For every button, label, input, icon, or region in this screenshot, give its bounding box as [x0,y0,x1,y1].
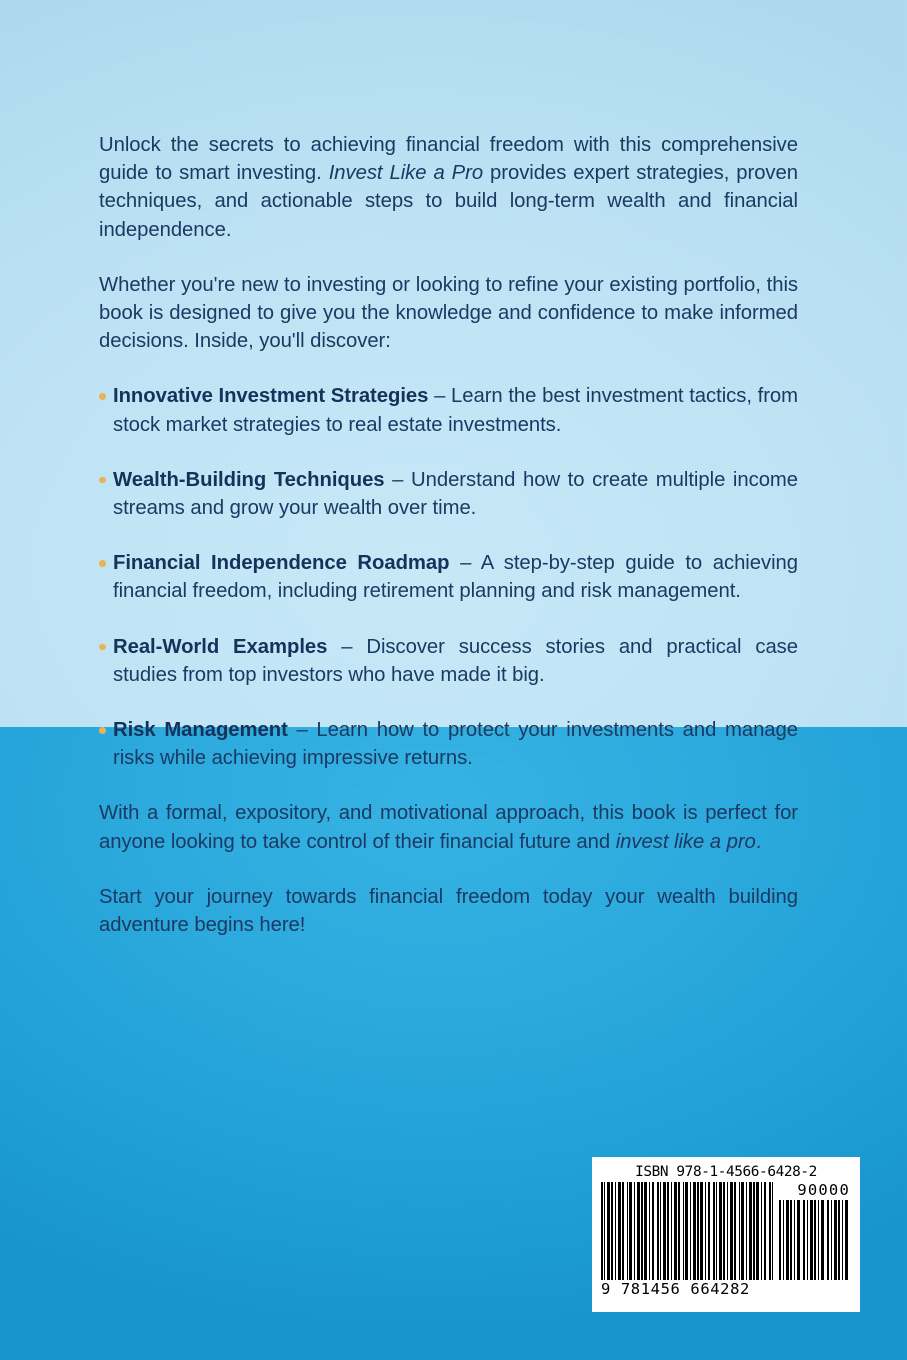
paragraph-closing-tail: . [756,831,762,853]
ean13-group: 9 781456 664282 [601,1182,773,1298]
list-item: Risk Management – Learn how to protect y… [99,716,798,772]
bullet-dot-icon [99,393,106,400]
paragraph-call-to-action: Start your journey towards financial fre… [99,883,798,939]
bullet-dot-icon [99,727,106,734]
feature-list: Innovative Investment Strategies – Learn… [99,382,798,772]
list-item-title: Wealth-Building Techniques [113,469,385,491]
bullet-dot-icon [99,477,106,484]
paragraph-intro: Unlock the secrets to achieving financia… [99,131,798,244]
list-item: Financial Independence Roadmap – A step-… [99,549,798,605]
ean5-bars-icon [779,1200,851,1280]
ean13-bars-icon [601,1182,773,1280]
list-item: Wealth-Building Techniques – Understand … [99,466,798,522]
list-item: Real-World Examples – Discover success s… [99,633,798,689]
closing-italic-phrase: invest like a pro [616,831,756,853]
list-item-title: Real-World Examples [113,636,327,658]
bullet-dot-icon [99,560,106,567]
ean5-addon-group: 90000 [777,1182,851,1280]
list-item-title: Financial Independence Roadmap [113,552,449,574]
bullet-dot-icon [99,644,106,651]
blurb-text-column: Unlock the secrets to achieving financia… [99,131,798,939]
list-item: Innovative Investment Strategies – Learn… [99,382,798,438]
list-item-title: Risk Management [113,719,288,741]
ean13-human-readable: 9 781456 664282 [601,1281,773,1298]
book-back-cover: Unlock the secrets to achieving financia… [0,0,907,1360]
barcode-bars-row: 9 781456 664282 90000 [601,1182,851,1307]
ean5-addon-digits: 90000 [797,1182,851,1199]
paragraph-audience: Whether you're new to investing or looki… [99,271,798,356]
isbn-barcode: ISBN 978-1-4566-6428-2 9 781456 664282 9… [592,1157,860,1312]
book-title-italic: Invest Like a Pro [329,162,483,184]
list-item-title: Innovative Investment Strategies [113,385,428,407]
isbn-number-label: ISBN 978-1-4566-6428-2 [601,1164,851,1180]
paragraph-closing: With a formal, expository, and motivatio… [99,799,798,855]
